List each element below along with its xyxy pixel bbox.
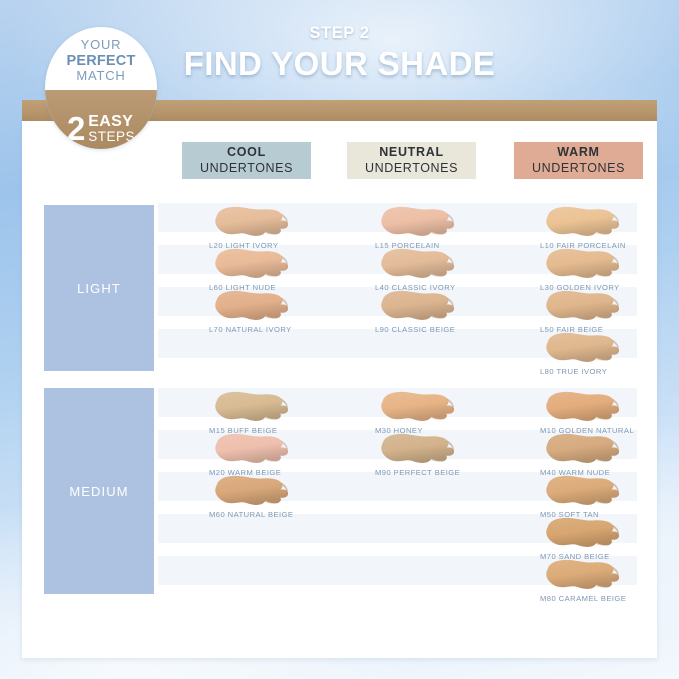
shade-swatch[interactable] — [540, 203, 634, 243]
badge-easy-label: EASY — [88, 114, 135, 130]
shade-swatch-art — [540, 203, 634, 243]
shade-swatch[interactable] — [209, 388, 303, 428]
shade-swatch-art — [209, 287, 303, 327]
badge-steps-label: STEPS — [88, 130, 135, 144]
shade-swatch-art — [375, 245, 469, 285]
shade-swatch[interactable] — [209, 287, 303, 327]
column-header-warm-sub: UNDERTONES — [532, 161, 625, 177]
column-header-neutral-sub: UNDERTONES — [365, 161, 458, 177]
shade-swatch-art — [540, 556, 634, 596]
shade-name-label: M60 NATURAL BEIGE — [209, 510, 359, 519]
shade-cell[interactable]: M60 NATURAL BEIGE — [209, 480, 359, 526]
shade-name-label: M90 PERFECT BEIGE — [375, 468, 525, 477]
shade-swatch-art — [540, 329, 634, 369]
shade-swatch[interactable] — [375, 245, 469, 285]
shade-swatch-art — [209, 472, 303, 512]
shade-swatch-art — [209, 430, 303, 470]
badge-line-2: PERFECT — [45, 53, 157, 69]
shade-swatch-art — [375, 203, 469, 243]
shade-cell[interactable]: M80 CARAMEL BEIGE — [540, 564, 679, 610]
column-header-warm-title: WARM — [532, 145, 625, 161]
group-label-light: LIGHT — [44, 205, 154, 371]
shade-swatch[interactable] — [540, 556, 634, 596]
shade-swatch[interactable] — [209, 203, 303, 243]
badge-line-1: YOUR — [45, 38, 157, 53]
column-header-cool: COOL UNDERTONES — [182, 142, 311, 179]
shade-swatch[interactable] — [375, 287, 469, 327]
shade-swatch[interactable] — [375, 430, 469, 470]
shade-swatch[interactable] — [540, 245, 634, 285]
column-header-neutral-title: NEUTRAL — [365, 145, 458, 161]
shade-swatch[interactable] — [540, 514, 634, 554]
badge-line-3: MATCH — [45, 69, 157, 84]
shade-swatch-art — [209, 388, 303, 428]
shade-cell[interactable]: L70 NATURAL IVORY — [209, 295, 359, 341]
shade-swatch-art — [375, 388, 469, 428]
shade-cell[interactable]: L80 TRUE IVORY — [540, 337, 679, 383]
shade-swatch-art — [209, 203, 303, 243]
infographic-canvas: STEP 2 FIND YOUR SHADE YOUR PERFECT MATC… — [0, 0, 679, 679]
shade-swatch[interactable] — [540, 430, 634, 470]
shade-swatch[interactable] — [375, 203, 469, 243]
shade-swatch[interactable] — [540, 388, 634, 428]
column-header-warm: WARM UNDERTONES — [514, 142, 643, 179]
group-label-medium: MEDIUM — [44, 388, 154, 594]
shade-name-label: M80 CARAMEL BEIGE — [540, 594, 679, 603]
shade-swatch-art — [540, 514, 634, 554]
shade-swatch-art — [540, 472, 634, 512]
badge-top-text: YOUR PERFECT MATCH — [45, 38, 157, 83]
shade-swatch[interactable] — [540, 329, 634, 369]
shade-swatch[interactable] — [375, 388, 469, 428]
shade-cell[interactable]: L90 CLASSIC BEIGE — [375, 295, 525, 341]
shade-swatch-art — [540, 430, 634, 470]
shade-swatch[interactable] — [540, 287, 634, 327]
shade-swatch[interactable] — [209, 472, 303, 512]
badge-easy-steps: EASY STEPS — [88, 114, 135, 144]
shade-swatch-art — [375, 287, 469, 327]
shade-swatch[interactable] — [540, 472, 634, 512]
shade-name-label: L70 NATURAL IVORY — [209, 325, 359, 334]
shade-name-label: L80 TRUE IVORY — [540, 367, 679, 376]
shade-cell[interactable]: M90 PERFECT BEIGE — [375, 438, 525, 484]
column-header-cool-title: COOL — [200, 145, 293, 161]
shade-swatch-art — [375, 430, 469, 470]
column-header-neutral: NEUTRAL UNDERTONES — [347, 142, 476, 179]
shade-swatch[interactable] — [209, 430, 303, 470]
badge-step-count: 2 — [67, 115, 85, 142]
shade-swatch-art — [540, 245, 634, 285]
shade-swatch[interactable] — [209, 245, 303, 285]
shade-name-label: L90 CLASSIC BEIGE — [375, 325, 525, 334]
column-header-cool-sub: UNDERTONES — [200, 161, 293, 177]
perfect-match-badge: YOUR PERFECT MATCH 2 EASY STEPS — [45, 27, 157, 149]
shade-swatch-art — [540, 287, 634, 327]
shade-swatch-art — [209, 245, 303, 285]
badge-bottom-text: 2 EASY STEPS — [45, 114, 157, 144]
shade-swatch-art — [540, 388, 634, 428]
